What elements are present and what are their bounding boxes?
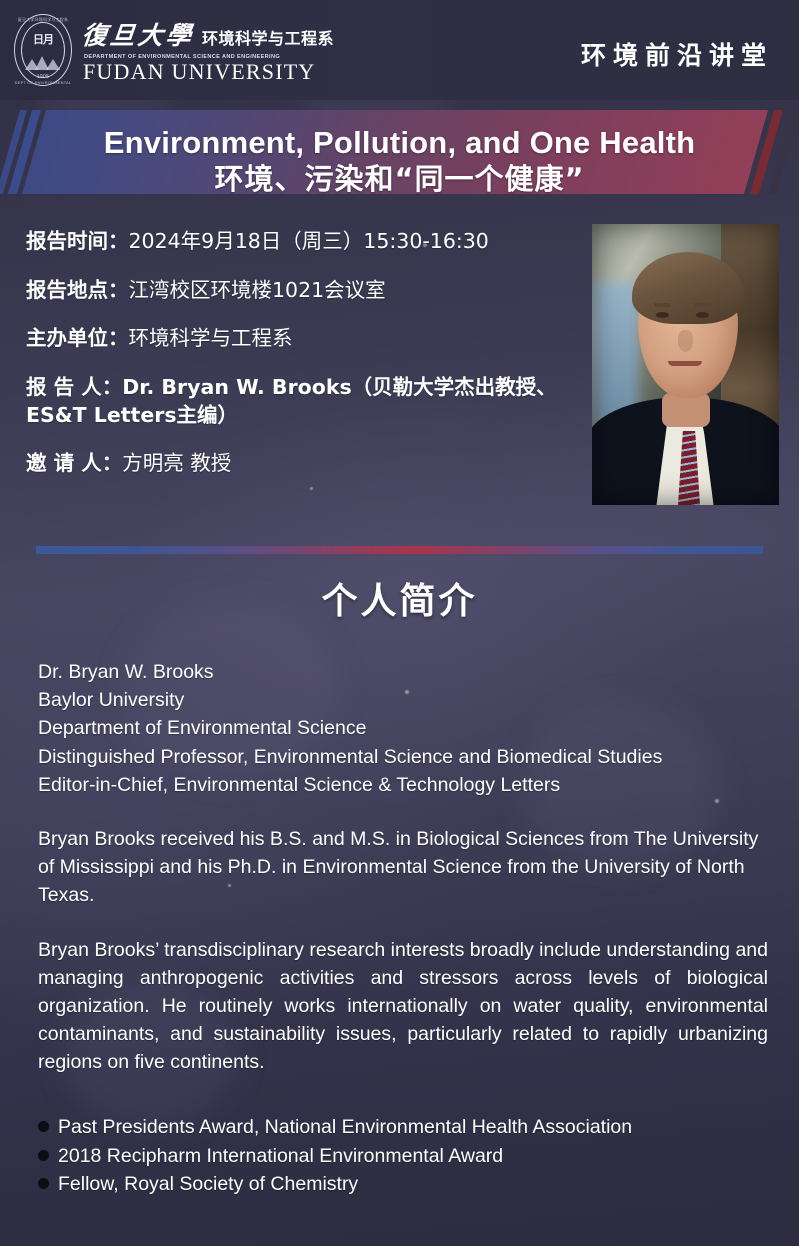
speaker-photo [592,224,779,505]
university-name-en: FUDAN UNIVERSITY [83,60,334,83]
award-item: Fellow, Royal Society of Chemistry [38,1170,768,1199]
biography-block: Dr. Bryan W. Brooks Baylor University De… [38,658,768,1077]
info-label-speaker: 报 告 人： [26,375,122,399]
brand-text-block: 復旦大學 环境科学与工程系 DEPARTMENT OF ENVIRONMENTA… [82,16,334,83]
department-name-cn: 环境科学与工程系 [202,25,334,49]
award-label: Fellow, Royal Society of Chemistry [58,1170,358,1199]
affiliation-line: Editor-in-Chief, Environmental Science &… [38,771,768,799]
info-label-place: 报告地点： [26,278,129,302]
affiliation-line: Distinguished Professor, Environmental S… [38,743,768,771]
bio-paragraph-education: Bryan Brooks received his B.S. and M.S. … [38,825,768,910]
info-row-place: 报告地点：江湾校区环境楼1021会议室 [26,277,586,305]
info-label-time: 报告时间： [26,229,129,253]
bullet-icon [38,1121,49,1132]
seal-center-glyphs: 日月 [33,31,53,47]
photo-vignette [592,224,779,505]
info-label-inviter: 邀 请 人： [26,451,122,475]
fudan-brand: 复旦大学环境科学与工程系 日月 1905 DEPT OF ENVIRONMENT… [14,14,334,86]
info-row-inviter: 邀 请 人：方明亮 教授 [26,450,586,478]
affiliation-line: Department of Environmental Science [38,714,768,742]
title-banner: Environment, Pollution, and One Health 环… [0,110,799,202]
lecture-series-title: 环境前沿讲堂 [581,36,773,72]
affiliation-line: Dr. Bryan W. Brooks [38,658,768,686]
poster-header: 复旦大学环境科学与工程系 日月 1905 DEPT OF ENVIRONMENT… [0,0,799,100]
seal-arc-top-text: 复旦大学环境科学与工程系 [14,17,72,23]
award-label: Past Presidents Award, National Environm… [58,1113,632,1142]
bullet-icon [38,1178,49,1189]
lecture-info-block: 报告时间：2024年9月18日（周三）15:30-16:30 报告地点：江湾校区… [26,228,586,478]
info-value-time: 2024年9月18日（周三）15:30-16:30 [129,229,489,253]
university-name-cn: 復旦大學 [80,16,196,52]
info-label-host: 主办单位： [26,326,129,350]
award-item: 2018 Recipharm International Environment… [38,1142,768,1171]
awards-list: Past Presidents Award, National Environm… [38,1113,768,1199]
info-value-inviter: 方明亮 教授 [122,451,231,475]
award-item: Past Presidents Award, National Environm… [38,1113,768,1142]
info-value-place: 江湾校区环境楼1021会议室 [129,278,386,302]
bullet-icon [38,1150,49,1161]
lecture-poster: 复旦大学环境科学与工程系 日月 1905 DEPT OF ENVIRONMENT… [0,0,799,1246]
award-label: 2018 Recipharm International Environment… [58,1142,503,1171]
info-value-host: 环境科学与工程系 [129,326,293,350]
section-title-bio: 个人简介 [0,572,799,624]
gradient-divider [36,546,763,554]
info-row-host: 主办单位：环境科学与工程系 [26,325,586,353]
bio-paragraph-research: Bryan Brooks’ transdisciplinary research… [38,936,768,1077]
affiliation-list: Dr. Bryan W. Brooks Baylor University De… [38,658,768,799]
seal-arc-bottom-text: DEPT OF ENVIRONMENTAL [14,80,72,85]
bg-particle [310,487,313,490]
banner-gradient-body [22,110,768,194]
info-row-time: 报告时间：2024年9月18日（周三）15:30-16:30 [26,228,586,256]
info-row-speaker: 报 告 人：Dr. Bryan W. Brooks（贝勒大学杰出教授、ES&T … [26,374,586,429]
fudan-seal-icon: 复旦大学环境科学与工程系 日月 1905 DEPT OF ENVIRONMENT… [14,14,72,86]
seal-mountain-icon [24,56,62,70]
brand-chinese-row: 復旦大學 环境科学与工程系 [82,16,334,52]
affiliation-line: Baylor University [38,686,768,714]
